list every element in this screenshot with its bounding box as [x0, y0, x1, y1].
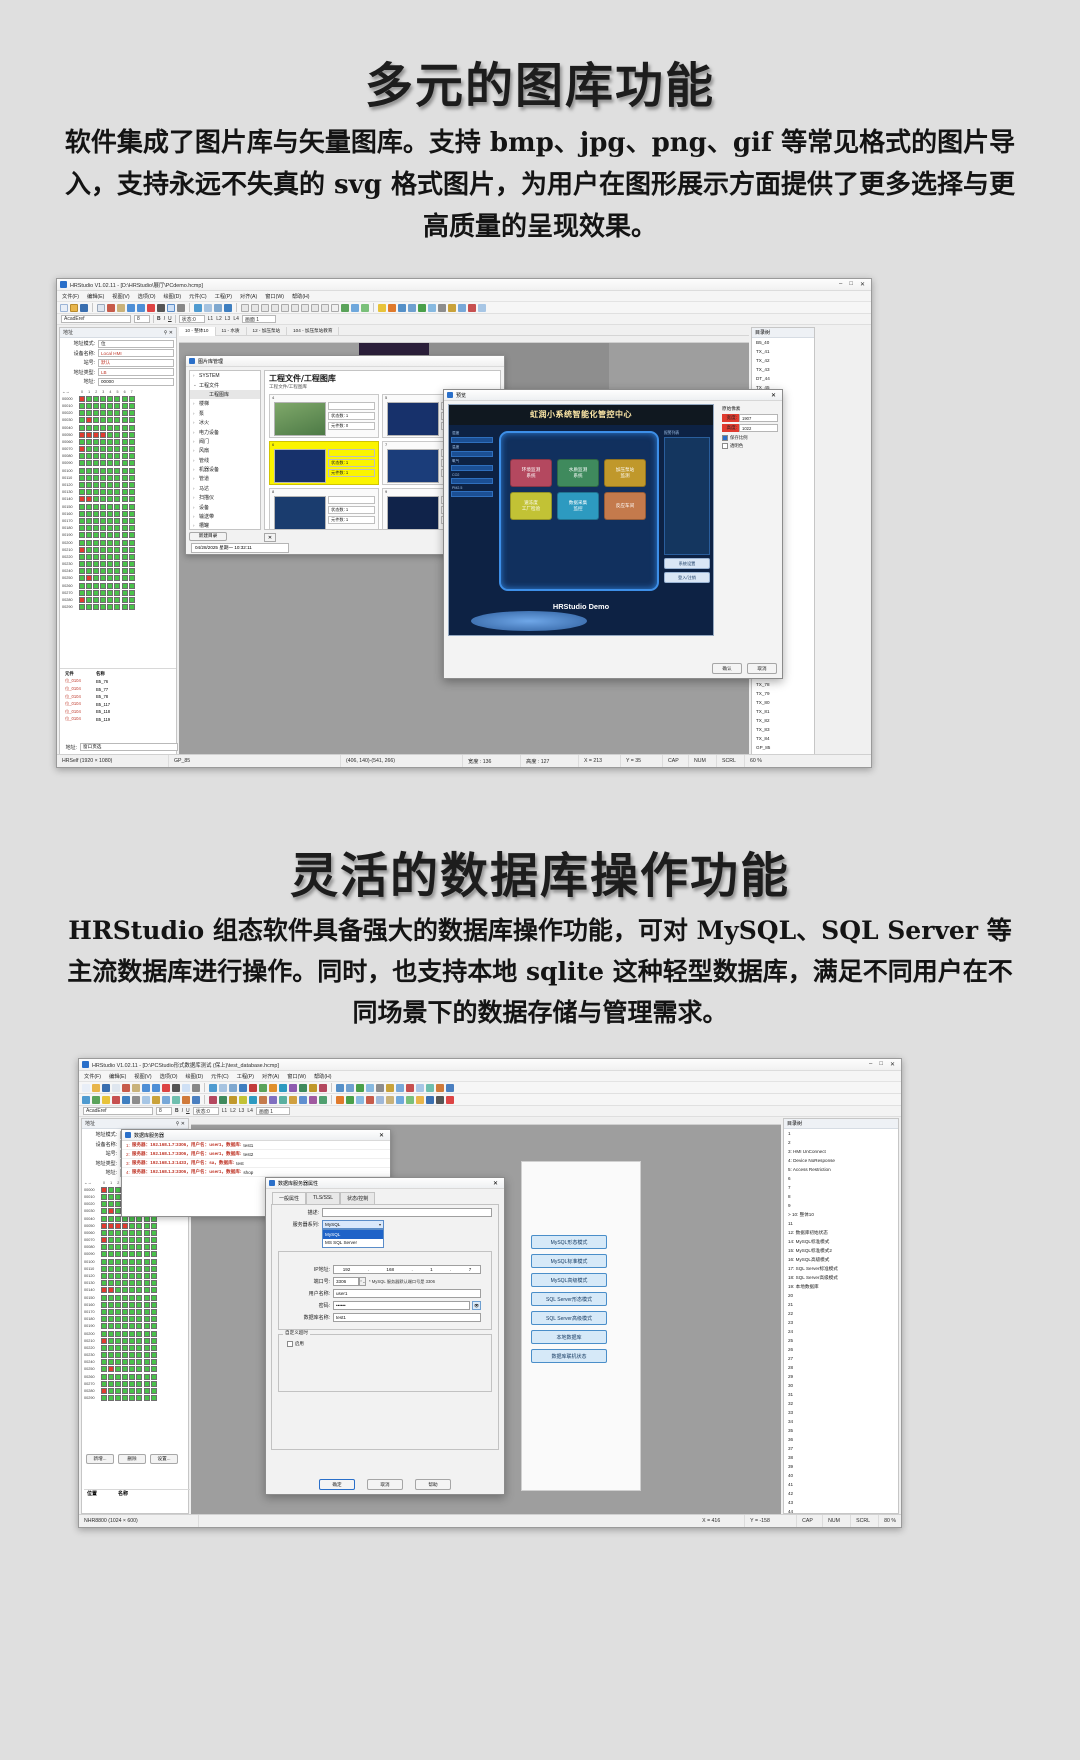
bit-cell[interactable]	[129, 540, 135, 546]
bit-cell[interactable]	[107, 496, 113, 502]
bit-cell[interactable]	[114, 475, 120, 481]
bit-cell[interactable]	[115, 1237, 121, 1243]
bit-cell[interactable]	[114, 432, 120, 438]
circle-icon[interactable]	[281, 304, 289, 312]
bit-grid-row[interactable]: 00200	[84, 1330, 186, 1337]
toolbar-icon[interactable]	[309, 1096, 317, 1104]
bit-cell[interactable]	[129, 1302, 135, 1308]
window-1-menubar[interactable]: 文件(F) 编辑(E) 视图(V) 选项(O) 绘图(D) 元件(C) 工程(P…	[57, 291, 871, 302]
bit-grid-row[interactable]: 00220	[62, 553, 174, 560]
bit-grid-row[interactable]: 00260	[62, 582, 174, 589]
bit-cell[interactable]	[115, 1287, 121, 1293]
menu-project[interactable]: 工程(P)	[215, 293, 232, 300]
bit-cell[interactable]	[129, 439, 135, 445]
bit-cell[interactable]	[129, 425, 135, 431]
bit-cell[interactable]	[129, 597, 135, 603]
toolbar-icon[interactable]	[406, 1096, 414, 1104]
bit-cell[interactable]	[93, 590, 99, 596]
bit-cell[interactable]	[108, 1259, 114, 1265]
bit-cell[interactable]	[86, 432, 92, 438]
bit-cell[interactable]	[108, 1237, 114, 1243]
menu-draw[interactable]: 绘图(D)	[163, 293, 181, 300]
font-name-combo[interactable]: AcadEref	[61, 315, 131, 323]
bit-cell[interactable]	[151, 1374, 157, 1380]
toolbar-icon[interactable]	[249, 1084, 257, 1092]
object-tree-item[interactable]: TX_80	[752, 698, 814, 707]
bit-cell[interactable]	[129, 583, 135, 589]
bold-icon[interactable]: B	[157, 316, 161, 322]
object-tree-item[interactable]: 12: 数据库初始状态	[784, 1228, 898, 1237]
state-combo-2[interactable]: 状态:0	[193, 1107, 219, 1115]
frame-icon[interactable]	[351, 304, 359, 312]
preview-close-icon[interactable]: ✕	[771, 392, 779, 399]
bit-cell[interactable]	[129, 1223, 135, 1229]
bit-cell[interactable]	[79, 590, 85, 596]
library-tree-node[interactable]: ›机器设备	[190, 465, 260, 474]
bit-cell[interactable]	[100, 583, 106, 589]
bit-cell[interactable]	[122, 1273, 128, 1279]
bit-cell[interactable]	[151, 1352, 157, 1358]
bit-cell[interactable]	[115, 1352, 121, 1358]
toolbar-icon[interactable]	[426, 1096, 434, 1104]
status-zoom[interactable]: 60 %	[745, 755, 767, 767]
bit-cell[interactable]	[79, 396, 85, 402]
bit-cell[interactable]	[136, 1237, 142, 1243]
bit-cell[interactable]	[101, 1395, 107, 1401]
object-tree-item[interactable]: 11	[784, 1219, 898, 1228]
bit-cell[interactable]	[115, 1266, 121, 1272]
text-icon[interactable]	[331, 304, 339, 312]
card-name-field[interactable]	[328, 402, 375, 410]
toolbar-icon[interactable]	[112, 1096, 120, 1104]
bit-cell[interactable]	[107, 446, 113, 452]
ip-octet-1[interactable]: 192	[343, 1267, 351, 1272]
bit-cell[interactable]	[93, 583, 99, 589]
bold-icon-2[interactable]: B	[175, 1108, 179, 1114]
db-mode-button[interactable]: 本地数据库	[531, 1330, 607, 1344]
bar-icon[interactable]	[408, 304, 416, 312]
bit-grid-row[interactable]: 00100	[84, 1258, 186, 1265]
bit-cell[interactable]	[114, 403, 120, 409]
bit-cell[interactable]	[100, 568, 106, 574]
toolbar-icon[interactable]	[209, 1096, 217, 1104]
toolbar-icon[interactable]	[152, 1084, 160, 1092]
bit-cell[interactable]	[101, 1374, 107, 1380]
bit-cell[interactable]	[101, 1266, 107, 1272]
bit-cell[interactable]	[122, 518, 128, 524]
bit-cell[interactable]	[129, 453, 135, 459]
toolbar-icon[interactable]	[162, 1084, 170, 1092]
object-tree-item[interactable]: 36	[784, 1435, 898, 1444]
toolbar-icon[interactable]	[446, 1084, 454, 1092]
maximize-icon[interactable]: □	[849, 281, 853, 288]
toolbar-icon[interactable]	[192, 1096, 200, 1104]
bit-cell[interactable]	[79, 410, 85, 416]
bit-cell[interactable]	[100, 432, 106, 438]
toolbar-icon[interactable]	[259, 1096, 267, 1104]
paste-icon[interactable]	[117, 304, 125, 312]
bit-cell[interactable]	[79, 583, 85, 589]
bit-cell[interactable]	[136, 1230, 142, 1236]
picture-icon[interactable]	[341, 304, 349, 312]
library-card[interactable]: 6状态数: 1元件数: 1	[269, 441, 379, 485]
switch-icon[interactable]	[388, 304, 396, 312]
bit-cell[interactable]	[122, 511, 128, 517]
toolbar-icon[interactable]	[102, 1084, 110, 1092]
bit-cell[interactable]	[115, 1251, 121, 1257]
bit-cell[interactable]	[101, 1201, 107, 1207]
bit-cell[interactable]	[122, 432, 128, 438]
object-tree-item[interactable]: 37	[784, 1444, 898, 1453]
bit-cell[interactable]	[101, 1295, 107, 1301]
bit-cell[interactable]	[93, 604, 99, 610]
bit-cell[interactable]	[151, 1244, 157, 1250]
db-help-button[interactable]: 帮助	[415, 1479, 451, 1490]
bit-grid-row[interactable]: 00120	[62, 481, 174, 488]
bit-cell[interactable]	[100, 504, 106, 510]
bit-cell[interactable]	[151, 1316, 157, 1322]
object-tree-item[interactable]: 26	[784, 1345, 898, 1354]
bit-grid-row[interactable]: 00090	[84, 1251, 186, 1258]
bit-cell[interactable]	[93, 496, 99, 502]
object-tree-item[interactable]: 25	[784, 1336, 898, 1345]
menu-draw-2[interactable]: 绘图(D)	[185, 1073, 203, 1080]
trend-icon[interactable]	[418, 304, 426, 312]
toolbar-icon[interactable]	[259, 1084, 267, 1092]
brush-icon[interactable]	[224, 304, 232, 312]
curve-icon[interactable]	[251, 304, 259, 312]
toolbar-icon[interactable]	[366, 1096, 374, 1104]
object-tree-item[interactable]: 28	[784, 1363, 898, 1372]
bit-cell[interactable]	[122, 1309, 128, 1315]
bit-cell[interactable]	[101, 1338, 107, 1344]
db-properties-tabs[interactable]: 一般属性 TLS/SSL 状态/控制	[266, 1189, 504, 1204]
rotate-icon[interactable]	[177, 304, 185, 312]
bit-cell[interactable]	[114, 540, 120, 546]
bit-cell[interactable]	[129, 511, 135, 517]
object-tree-item[interactable]: 31	[784, 1390, 898, 1399]
device-name-select[interactable]: Local HMI	[98, 349, 174, 357]
database-server-row[interactable]: 4:服务器：192.168.1.3:3306，用户名：user1，数据库:sho…	[122, 1168, 390, 1177]
toolbar-icon[interactable]	[92, 1096, 100, 1104]
bit-cell[interactable]	[136, 1287, 142, 1293]
bit-cell[interactable]	[129, 1230, 135, 1236]
bit-cell[interactable]	[93, 410, 99, 416]
tab-104[interactable]: 104 - 加压泵站教育	[287, 327, 339, 336]
maximize-icon-2[interactable]: □	[879, 1061, 883, 1068]
object-tree-item[interactable]: 43	[784, 1498, 898, 1507]
bit-cell[interactable]	[100, 453, 106, 459]
bit-cell[interactable]	[93, 460, 99, 466]
bit-cell[interactable]	[93, 547, 99, 553]
object-tree-item[interactable]: TX_41	[752, 347, 814, 356]
object-tree-item[interactable]: 3: HMI UnConnect	[784, 1147, 898, 1156]
bit-cell[interactable]	[79, 417, 85, 423]
bit-cell[interactable]	[122, 1302, 128, 1308]
bit-cell[interactable]	[100, 540, 106, 546]
bit-cell[interactable]	[114, 511, 120, 517]
bit-cell[interactable]	[129, 1244, 135, 1250]
toolbar-icon[interactable]	[132, 1084, 140, 1092]
object-tree-item[interactable]: 35	[784, 1426, 898, 1435]
bit-cell[interactable]	[79, 568, 85, 574]
bit-grid-row[interactable]: 00260	[84, 1373, 186, 1380]
address-mode-select[interactable]: 位	[98, 340, 174, 348]
card-thumbnail[interactable]	[274, 449, 326, 483]
toolbar-icon[interactable]	[132, 1096, 140, 1104]
bit-cell[interactable]	[122, 446, 128, 452]
hmi-nav-button[interactable]: 数据采集监控	[557, 492, 599, 520]
bit-cell[interactable]	[107, 532, 113, 538]
bit-cell[interactable]	[79, 504, 85, 510]
toolbar-icon[interactable]	[162, 1096, 170, 1104]
panel-pin-icon-2[interactable]: ⚲ ✕	[176, 1121, 185, 1127]
db-mode-button[interactable]: MySQL形态模式	[531, 1235, 607, 1249]
bit-cell[interactable]	[93, 540, 99, 546]
bit-cell[interactable]	[108, 1345, 114, 1351]
object-tree-item[interactable]: 1	[784, 1129, 898, 1138]
bit-cell[interactable]	[122, 597, 128, 603]
bit-cell[interactable]	[107, 468, 113, 474]
ip-octet-3[interactable]: 1	[430, 1267, 433, 1272]
object-tree-item[interactable]: TX_81	[752, 707, 814, 716]
bit-cell[interactable]	[129, 1273, 135, 1279]
library-tree-node[interactable]: ›电力设备	[190, 427, 260, 436]
bit-cell[interactable]	[86, 504, 92, 510]
layer-l3-2[interactable]: L3	[239, 1108, 245, 1114]
library-card[interactable]: 4状态数: 1元件数: 0	[269, 394, 379, 438]
bit-cell[interactable]	[115, 1359, 121, 1365]
bit-cell[interactable]	[86, 496, 92, 502]
db-dialog-buttons[interactable]: 确定 取消 帮助	[266, 1479, 504, 1490]
bit-cell[interactable]	[136, 1366, 142, 1372]
bit-grid-row[interactable]: 00150	[84, 1294, 186, 1301]
timeout-enable-row[interactable]: 启用	[287, 1341, 487, 1347]
bit-cell[interactable]	[79, 432, 85, 438]
object-tree-item[interactable]: > 10: 整体10	[784, 1210, 898, 1219]
bit-cell[interactable]	[100, 597, 106, 603]
database-server-row[interactable]: 2:服务器：192.168.1.7:3306，用户名：user1，数据库:tes…	[122, 1150, 390, 1159]
bit-cell[interactable]	[101, 1345, 107, 1351]
bit-cell[interactable]	[93, 489, 99, 495]
page-combo-2[interactable]: 画面 1	[256, 1107, 290, 1115]
object-tree-item[interactable]: 42	[784, 1489, 898, 1498]
bit-cell[interactable]	[129, 460, 135, 466]
bit-cell[interactable]	[93, 597, 99, 603]
preview-height-input[interactable]: 1022	[739, 424, 778, 432]
bit-cell[interactable]	[122, 1244, 128, 1250]
bit-cell[interactable]	[136, 1223, 142, 1229]
bit-cell[interactable]	[115, 1366, 121, 1372]
layer-l1[interactable]: L1	[208, 316, 214, 322]
bit-grid-row[interactable]: 00060	[84, 1229, 186, 1236]
bit-cell[interactable]	[108, 1194, 114, 1200]
bit-cell[interactable]	[144, 1345, 150, 1351]
bit-cell[interactable]	[115, 1244, 121, 1250]
bit-cell[interactable]	[129, 504, 135, 510]
minimize-icon[interactable]: –	[839, 281, 842, 288]
bit-cell[interactable]	[86, 417, 92, 423]
object-tree-item[interactable]: 5: Access Restriction	[784, 1165, 898, 1174]
toolbar-icon[interactable]	[319, 1096, 327, 1104]
bit-cell[interactable]	[86, 460, 92, 466]
bit-cell[interactable]	[136, 1309, 142, 1315]
underline-icon[interactable]: U	[168, 316, 172, 322]
bit-cell[interactable]	[136, 1251, 142, 1257]
bit-cell[interactable]	[86, 590, 92, 596]
window-controls[interactable]: – □ ✕	[839, 281, 868, 288]
bit-grid-row[interactable]: 00120	[84, 1272, 186, 1279]
object-tree-item[interactable]: TX_78	[752, 680, 814, 689]
bit-cell[interactable]	[129, 1295, 135, 1301]
bit-cell[interactable]	[129, 468, 135, 474]
bit-cell[interactable]	[93, 396, 99, 402]
underline-icon-2[interactable]: U	[186, 1108, 190, 1114]
toolbar-icon[interactable]	[436, 1084, 444, 1092]
bit-cell[interactable]	[107, 604, 113, 610]
hmi-nav-button[interactable]: 速冻度工厂检验	[510, 492, 552, 520]
bit-cell[interactable]	[114, 504, 120, 510]
tab-11[interactable]: 11 - 水质	[216, 327, 247, 336]
bit-cell[interactable]	[129, 489, 135, 495]
bit-cell[interactable]	[108, 1352, 114, 1358]
bit-cell[interactable]	[115, 1395, 121, 1401]
bit-grid-row[interactable]: 00240	[62, 568, 174, 575]
bit-cell[interactable]	[129, 1323, 135, 1329]
db-mode-button[interactable]: MySQL标准模式	[531, 1254, 607, 1268]
bit-cell[interactable]	[108, 1266, 114, 1272]
bit-cell[interactable]	[115, 1273, 121, 1279]
bit-cell[interactable]	[115, 1338, 121, 1344]
object-tree-item[interactable]: 18: SQL Server高级模式	[784, 1273, 898, 1282]
bit-cell[interactable]	[79, 453, 85, 459]
bit-cell[interactable]	[100, 547, 106, 553]
bit-cell[interactable]	[129, 575, 135, 581]
toolbar-icon[interactable]	[92, 1084, 100, 1092]
bit-cell[interactable]	[144, 1259, 150, 1265]
system-settings-button[interactable]: 系统设置	[664, 558, 710, 569]
toolbar-icon[interactable]	[336, 1096, 344, 1104]
bit-cell[interactable]	[144, 1266, 150, 1272]
bit-cell[interactable]	[122, 532, 128, 538]
bit-cell[interactable]	[101, 1223, 107, 1229]
bit-cell[interactable]	[144, 1287, 150, 1293]
menu-file[interactable]: 文件(F)	[62, 293, 79, 300]
bit-cell[interactable]	[114, 453, 120, 459]
username-input[interactable]: user1	[333, 1289, 481, 1298]
bit-cell[interactable]	[79, 425, 85, 431]
bit-cell[interactable]	[122, 1223, 128, 1229]
bit-cell[interactable]	[136, 1331, 142, 1337]
bit-cell[interactable]	[107, 460, 113, 466]
bit-cell[interactable]	[108, 1230, 114, 1236]
bit-cell[interactable]	[144, 1309, 150, 1315]
bit-cell[interactable]	[122, 489, 128, 495]
toolbar-icon[interactable]	[229, 1084, 237, 1092]
bit-cell[interactable]	[107, 518, 113, 524]
library-tree-node[interactable]: ⌄工程文件	[190, 380, 260, 389]
bit-cell[interactable]	[101, 1302, 107, 1308]
bit-cell[interactable]	[136, 1316, 142, 1322]
bit-cell[interactable]	[122, 1388, 128, 1394]
bit-cell[interactable]	[129, 446, 135, 452]
bit-cell[interactable]	[93, 511, 99, 517]
object-tree-item[interactable]: 2	[784, 1138, 898, 1147]
hmi-nav-button[interactable]: 环境监测系统	[510, 459, 552, 487]
layer-l1-2[interactable]: L1	[222, 1108, 228, 1114]
bit-cell[interactable]	[86, 439, 92, 445]
bit-cell[interactable]	[122, 568, 128, 574]
bit-cell[interactable]	[122, 575, 128, 581]
bit-cell[interactable]	[144, 1323, 150, 1329]
layers-icon[interactable]	[214, 304, 222, 312]
library-tree-node[interactable]: ›设备	[190, 502, 260, 511]
bit-cell[interactable]	[86, 575, 92, 581]
object-tree-item[interactable]: 9	[784, 1201, 898, 1210]
bit-cell[interactable]	[101, 1388, 107, 1394]
db-mode-button[interactable]: 数据库联机状态	[531, 1349, 607, 1363]
menu-window[interactable]: 窗口(W)	[265, 293, 284, 300]
bit-cell[interactable]	[86, 547, 92, 553]
bit-cell[interactable]	[86, 597, 92, 603]
bit-cell[interactable]	[151, 1388, 157, 1394]
alarm-list-box[interactable]	[664, 437, 710, 555]
window-2-menubar[interactable]: 文件(F) 编辑(E) 视图(V) 选项(O) 绘图(D) 元件(C) 工程(P…	[79, 1071, 901, 1082]
address-list-row[interactable]: 位_0104B5_118	[62, 709, 174, 715]
menu-options-2[interactable]: 选项(O)	[160, 1073, 178, 1080]
keep-ratio-row[interactable]: 保存比例	[722, 435, 778, 441]
port-stepper-icon[interactable]: ⌃⌄	[359, 1277, 366, 1286]
bit-grid-row[interactable]: 00290	[62, 604, 174, 611]
toolbar-icon[interactable]	[289, 1084, 297, 1092]
library-tree-node[interactable]: ›SYSTEM	[190, 371, 260, 380]
bit-cell[interactable]	[107, 475, 113, 481]
bit-cell[interactable]	[100, 575, 106, 581]
bit-cell[interactable]	[129, 1309, 135, 1315]
menu-edit[interactable]: 编辑(E)	[87, 293, 104, 300]
bit-cell[interactable]	[107, 511, 113, 517]
panel-pin-icon[interactable]: ⚲ ✕	[164, 330, 173, 336]
dbname-input[interactable]: test1	[333, 1313, 481, 1322]
window-1-toolbar-row-1[interactable]	[57, 302, 871, 314]
bit-cell[interactable]	[101, 1323, 107, 1329]
password-input[interactable]: ••••••	[333, 1301, 470, 1310]
preview-dialog-buttons[interactable]: 确认 取消	[712, 663, 777, 674]
undo-icon[interactable]	[127, 304, 135, 312]
bit-cell[interactable]	[101, 1216, 107, 1222]
object-tree-item[interactable]: TX_79	[752, 689, 814, 698]
object-tree-item[interactable]: 29	[784, 1372, 898, 1381]
delete-button[interactable]: 删除	[118, 1454, 146, 1464]
bit-cell[interactable]	[101, 1230, 107, 1236]
database-server-row[interactable]: 1:服务器：192.168.1.7:3306，用户名：user1，数据库:tes…	[122, 1141, 390, 1150]
card-thumbnail[interactable]	[387, 402, 439, 436]
object-tree-item[interactable]: 38	[784, 1453, 898, 1462]
bit-cell[interactable]	[136, 1359, 142, 1365]
bit-cell[interactable]	[107, 568, 113, 574]
meter-icon[interactable]	[398, 304, 406, 312]
bit-cell[interactable]	[129, 396, 135, 402]
bit-cell[interactable]	[115, 1302, 121, 1308]
pie-icon[interactable]	[291, 304, 299, 312]
preview-cancel-button[interactable]: 取消	[747, 663, 777, 674]
bit-cell[interactable]	[129, 1338, 135, 1344]
bit-cell[interactable]	[151, 1331, 157, 1337]
hmi-nav-button[interactable]: 加压泵站监测	[604, 459, 646, 487]
bit-cell[interactable]	[129, 1374, 135, 1380]
menu-align[interactable]: 对齐(A)	[240, 293, 257, 300]
bit-cell[interactable]	[86, 403, 92, 409]
